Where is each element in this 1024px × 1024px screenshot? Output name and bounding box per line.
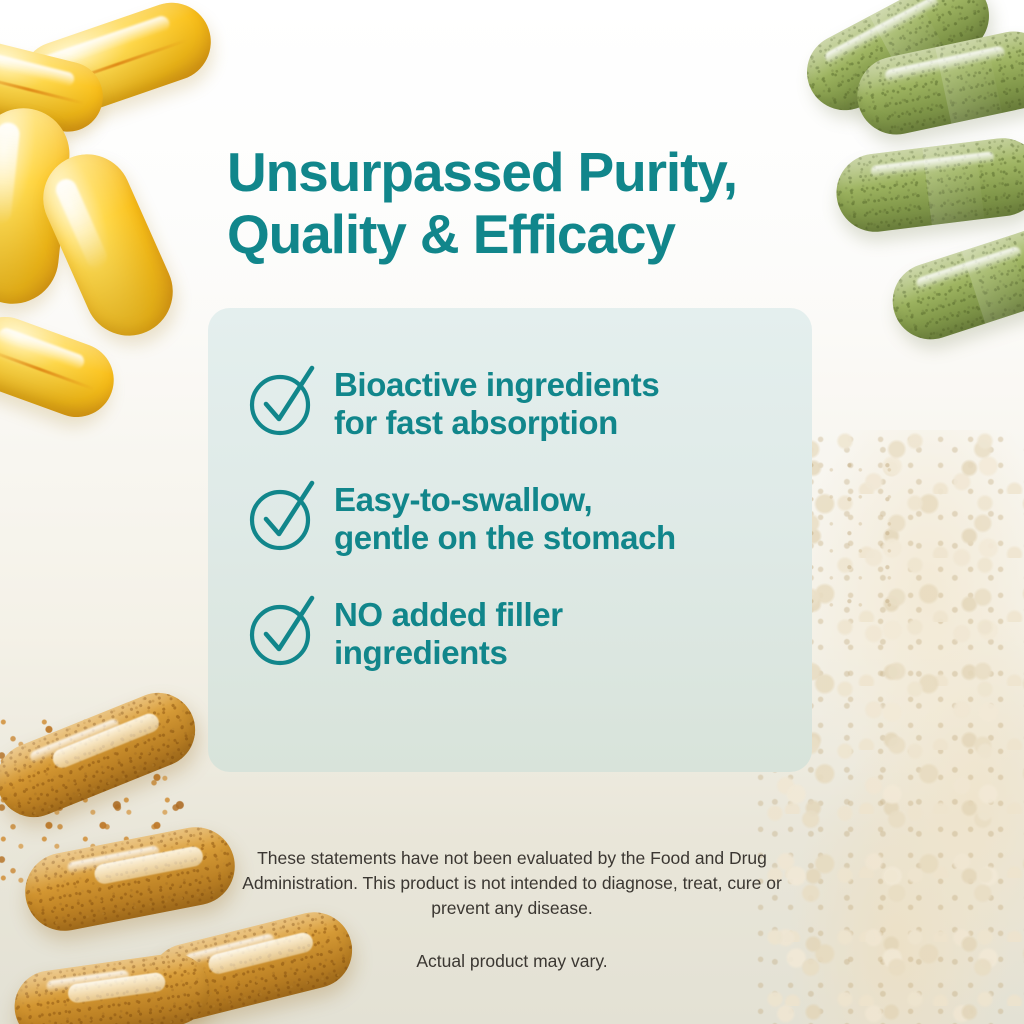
green-capsule: [794, 0, 1003, 124]
promo-graphic: Unsurpassed Purity, Quality & Efficacy B…: [0, 0, 1024, 1024]
benefit-1-line-2: for fast absorption: [334, 404, 659, 442]
benefits-list: Bioactive ingredients for fast absorptio…: [248, 360, 788, 672]
softgel-capsule: [29, 140, 187, 349]
softgel-capsule: [0, 35, 110, 139]
softgel-capsule: [0, 104, 74, 309]
check-circle-icon: [248, 362, 320, 438]
list-item: Bioactive ingredients for fast absorptio…: [248, 360, 788, 442]
list-item: NO added filler ingredients: [248, 590, 788, 672]
green-capsule: [883, 219, 1024, 349]
amber-capsule: [10, 949, 214, 1024]
softgel-capsule: [11, 0, 222, 130]
spilled-spice-powder: [0, 715, 197, 900]
amber-capsule: [0, 682, 206, 829]
list-item-label: NO added filler ingredients: [334, 590, 563, 672]
disclaimer: These statements have not been evaluated…: [212, 846, 812, 974]
benefit-3-line-1: NO added filler: [334, 596, 563, 634]
list-item: Easy-to-swallow, gentle on the stomach: [248, 475, 788, 557]
fda-disclaimer: These statements have not been evaluated…: [212, 846, 812, 921]
check-circle-icon: [248, 477, 320, 553]
green-capsule: [832, 134, 1024, 237]
list-item-label: Easy-to-swallow, gentle on the stomach: [334, 475, 676, 557]
benefit-1-line-1: Bioactive ingredients: [334, 366, 659, 404]
headline-line-2: Quality & Efficacy: [227, 203, 827, 265]
benefit-2-line-2: gentle on the stomach: [334, 519, 676, 557]
benefit-3-line-2: ingredients: [334, 634, 563, 672]
green-capsule: [850, 24, 1024, 141]
amber-capsule: [19, 820, 242, 937]
list-item-label: Bioactive ingredients for fast absorptio…: [334, 360, 659, 442]
benefit-2-line-1: Easy-to-swallow,: [334, 481, 676, 519]
product-vary-note: Actual product may vary.: [212, 949, 812, 974]
page-title: Unsurpassed Purity, Quality & Efficacy: [227, 141, 827, 265]
check-circle-icon: [248, 592, 320, 668]
softgel-capsule: [0, 307, 124, 428]
headline-line-1: Unsurpassed Purity,: [227, 141, 827, 203]
